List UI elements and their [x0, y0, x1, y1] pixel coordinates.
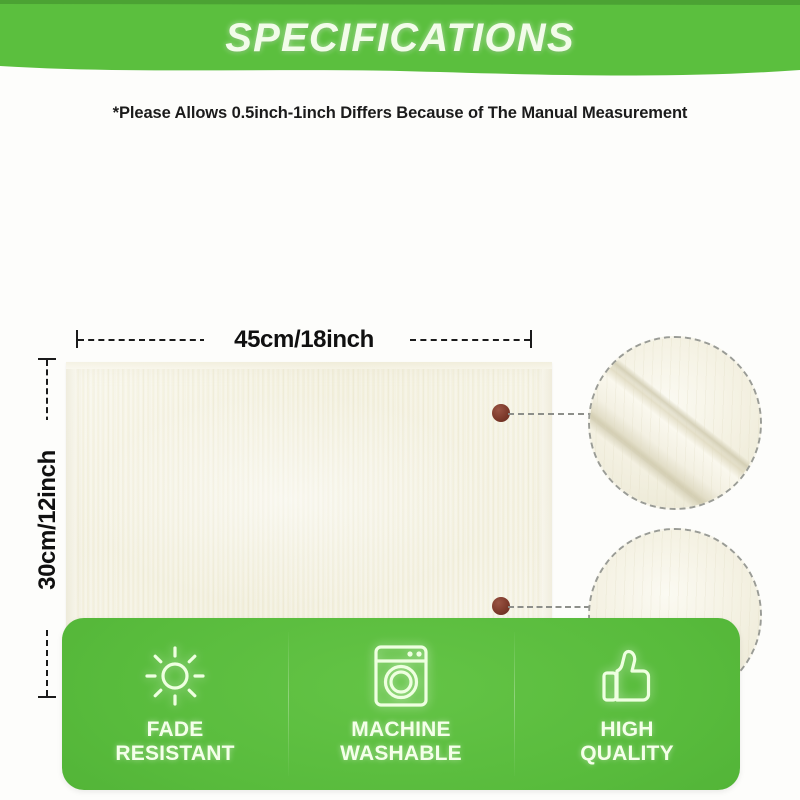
detail-texture: [590, 338, 760, 508]
placemat-edge-top: [66, 362, 552, 369]
feature-high-quality: HIGH QUALITY: [514, 618, 740, 790]
washing-machine-icon: [365, 640, 437, 712]
features-panel: FADE RESISTANT MACHINE WASHABLE: [62, 618, 740, 790]
page-title: SPECIFICATIONS: [0, 16, 800, 61]
header-banner: SPECIFICATIONS: [0, 0, 800, 84]
measurement-note: *Please Allows 0.5inch-1inch Differs Bec…: [0, 104, 800, 123]
feature-label: MACHINE WASHABLE: [340, 718, 462, 766]
feature-label: FADE RESISTANT: [115, 718, 234, 766]
detail-circle-edge-binding: [588, 336, 762, 510]
height-dash-bottom: [46, 630, 48, 696]
width-dash-left: [78, 339, 206, 341]
spec-diagram: 45cm/18inch 30cm/12inch: [0, 150, 800, 610]
leader-line-edge: [508, 413, 594, 415]
leader-line-surface: [508, 606, 590, 608]
feature-label: HIGH QUALITY: [580, 718, 674, 766]
height-label: 30cm/12inch: [34, 420, 62, 620]
feature-fade-resistant: FADE RESISTANT: [62, 618, 288, 790]
height-cap-bottom: [38, 696, 56, 698]
width-cap-right: [530, 330, 532, 348]
sun-icon: [139, 640, 211, 712]
specification-page: SPECIFICATIONS *Please Allows 0.5inch-1i…: [0, 0, 800, 800]
width-dimension: 45cm/18inch: [76, 326, 532, 352]
width-dash-right: [410, 339, 530, 341]
thumbs-up-icon: [591, 640, 663, 712]
width-label: 45cm/18inch: [204, 326, 404, 354]
feature-machine-washable: MACHINE WASHABLE: [288, 618, 514, 790]
height-dimension: 30cm/12inch: [34, 358, 60, 698]
